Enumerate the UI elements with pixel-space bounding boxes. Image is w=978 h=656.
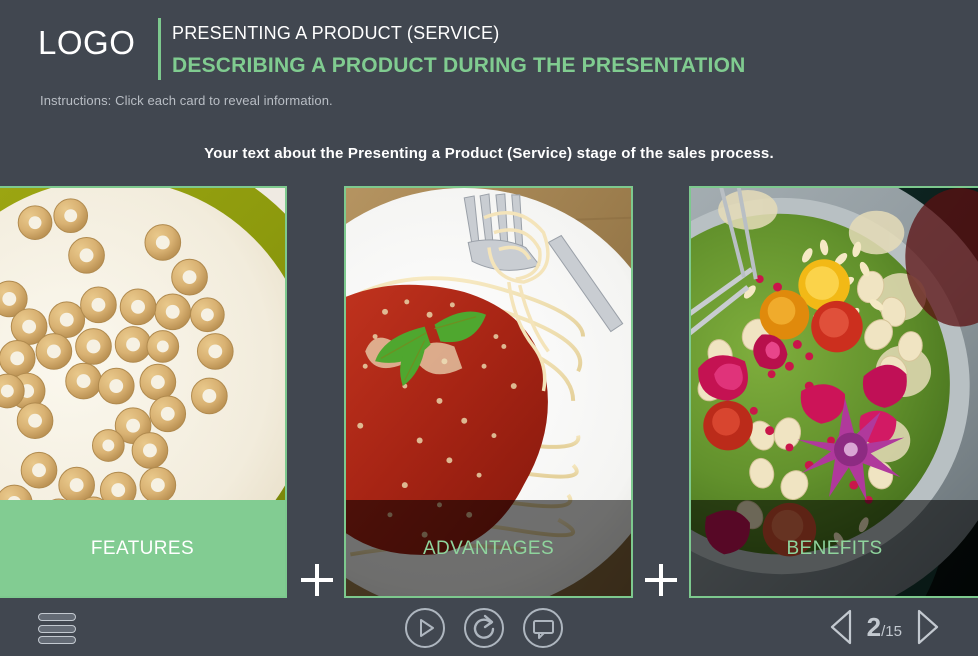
plus-icon [298, 561, 336, 599]
slide-canvas: LOGO PRESENTING A PRODUCT (SERVICE) DESC… [0, 0, 978, 656]
lead-paragraph: Your text about the Presenting a Product… [0, 145, 978, 162]
page-total: /15 [881, 623, 902, 640]
replay-icon [466, 610, 502, 646]
play-icon [407, 610, 443, 646]
page-navigation: 2/15 [829, 608, 940, 646]
card-advantages-overlay: ADVANTAGES [346, 500, 631, 596]
next-button[interactable] [916, 608, 940, 646]
card-benefits-overlay: BENEFITS [691, 500, 978, 596]
menu-bar [38, 613, 76, 621]
card-features-label: FEATURES [91, 539, 194, 558]
header-divider [158, 18, 161, 80]
card-features-overlay: FEATURES [0, 500, 285, 596]
play-button[interactable] [405, 608, 445, 648]
plus-icon [642, 561, 680, 599]
page-indicator: 2/15 [867, 614, 902, 640]
speech-bubble-icon [525, 610, 561, 646]
logo: LOGO [38, 26, 135, 59]
card-benefits-label: BENEFITS [786, 539, 882, 558]
player-footer: 2/15 [0, 600, 978, 656]
slide-header: LOGO PRESENTING A PRODUCT (SERVICE) DESC… [0, 0, 978, 120]
hamburger-menu-icon[interactable] [38, 613, 76, 644]
page-current: 2 [867, 612, 881, 642]
header-title-block: PRESENTING A PRODUCT (SERVICE) DESCRIBIN… [172, 22, 745, 78]
card-advantages[interactable]: ADVANTAGES [344, 186, 633, 598]
menu-bar [38, 636, 76, 644]
instructions-text: Instructions: Click each card to reveal … [40, 93, 333, 108]
logo-text: LOGO [38, 26, 135, 59]
menu-bar [38, 625, 76, 633]
cards-row: FEATURES [0, 186, 978, 598]
notes-button[interactable] [523, 608, 563, 648]
previous-button[interactable] [829, 608, 853, 646]
header-eyebrow: PRESENTING A PRODUCT (SERVICE) [172, 22, 745, 45]
card-advantages-label: ADVANTAGES [423, 539, 554, 558]
card-features[interactable]: FEATURES [0, 186, 287, 598]
replay-button[interactable] [464, 608, 504, 648]
page-title: DESCRIBING A PRODUCT DURING THE PRESENTA… [172, 53, 745, 78]
card-benefits[interactable]: BENEFITS [689, 186, 978, 598]
playback-controls [405, 608, 563, 648]
